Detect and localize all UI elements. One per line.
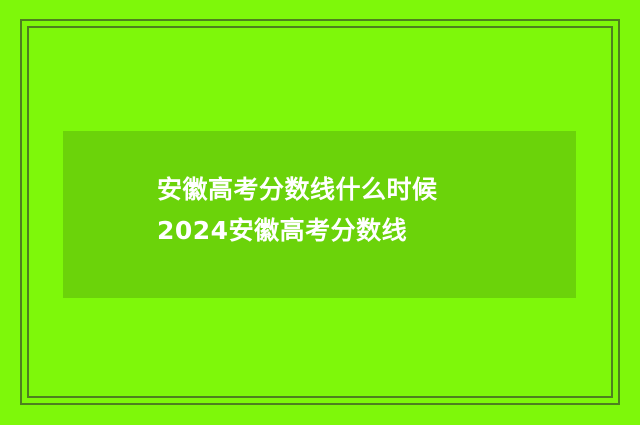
title-line-2: 2024安徽高考分数线 [157, 210, 557, 251]
banner-canvas: 安徽高考分数线什么时候 2024安徽高考分数线 [0, 0, 640, 425]
title-line-1: 安徽高考分数线什么时候 [157, 169, 557, 210]
title-block: 安徽高考分数线什么时候 2024安徽高考分数线 [157, 169, 557, 251]
content-panel: 安徽高考分数线什么时候 2024安徽高考分数线 [63, 131, 576, 298]
